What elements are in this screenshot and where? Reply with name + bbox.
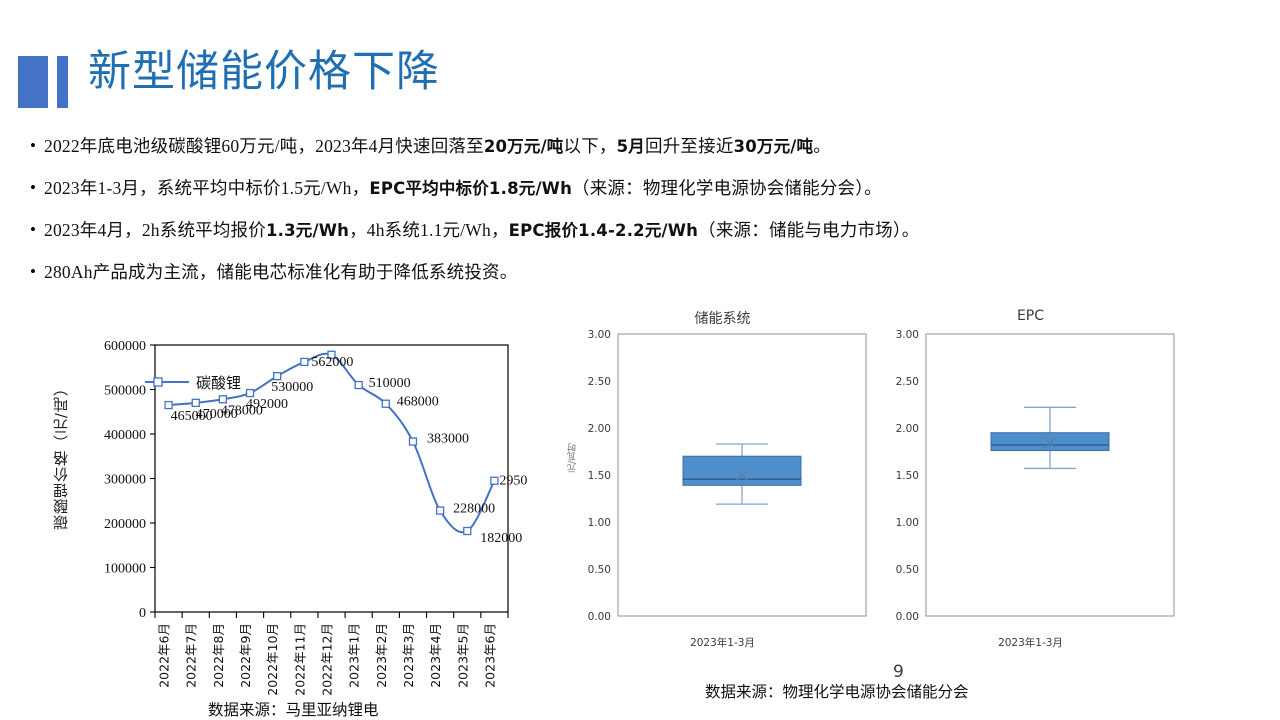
svg-text:2.50: 2.50 (896, 376, 919, 388)
list-item: • 280Ah产品成为主流，储能电芯标准化有助于降低系统投资。 (22, 259, 1272, 287)
page-title: 新型储能价格下降 (88, 48, 440, 97)
box-chart-title: EPC (878, 308, 1183, 324)
svg-text:2023年6月: 2023年6月 (482, 623, 497, 688)
bullet-text: 280Ah产品成为主流，储能电芯标准化有助于降低系统投资。 (44, 259, 517, 285)
lithium-price-line-chart: 碳酸锂价格（元/吨） 01000002000003000004000005000… (58, 320, 528, 720)
charts-area: 碳酸锂价格（元/吨） 01000002000003000004000005000… (0, 300, 1280, 720)
svg-text:2.00: 2.00 (896, 423, 919, 435)
slide-root: 新型储能价格下降 • 2022年底电池级碳酸锂60万元/吨，2023年4月快速回… (0, 0, 1280, 720)
svg-text:1.00: 1.00 (896, 517, 919, 529)
bullet-marker: • (22, 133, 44, 159)
svg-text:600000: 600000 (104, 339, 146, 354)
svg-text:492000: 492000 (246, 397, 288, 412)
svg-text:0: 0 (139, 606, 146, 621)
page-number: 9 (893, 662, 904, 682)
svg-text:228000: 228000 (453, 502, 495, 517)
bullet-text: 2023年1-3月，系统平均中标价1.5元/Wh，EPC平均中标价1.8元/Wh… (44, 175, 882, 202)
box-chart-title: 储能系统 (570, 308, 875, 328)
svg-text:2023年2月: 2023年2月 (374, 623, 389, 688)
accent-bar-thin (57, 56, 68, 108)
list-item: • 2022年底电池级碳酸锂60万元/吨，2023年4月快速回落至20万元/吨以… (22, 133, 1272, 161)
box-charts-source-caption: 数据来源：物理化学电源协会储能分会 (705, 680, 969, 702)
svg-text:383000: 383000 (427, 432, 469, 447)
list-item: • 2023年1-3月，系统平均中标价1.5元/Wh，EPC平均中标价1.8元/… (22, 175, 1272, 203)
svg-text:2022年10月: 2022年10月 (265, 623, 280, 695)
box-chart-canvas: 0.000.501.001.502.002.503.00 (878, 326, 1183, 636)
svg-text:0.50: 0.50 (588, 564, 611, 576)
svg-text:2.00: 2.00 (588, 423, 611, 435)
ess-price-box-chart: 储能系统 元/瓦时 0.000.501.001.502.002.503.00 2… (570, 308, 875, 653)
svg-text:2022年6月: 2022年6月 (157, 623, 172, 688)
box-chart-category-label: 2023年1-3月 (570, 635, 875, 650)
title-accent-bars (18, 56, 68, 108)
svg-text:1.50: 1.50 (588, 470, 611, 482)
svg-text:2023年1月: 2023年1月 (347, 623, 362, 688)
svg-text:2023年5月: 2023年5月 (455, 623, 470, 688)
svg-text:530000: 530000 (271, 380, 313, 395)
svg-text:2022年7月: 2022年7月 (184, 623, 199, 688)
svg-text:182000: 182000 (480, 531, 522, 546)
svg-text:510000: 510000 (369, 376, 411, 391)
svg-text:2022年12月: 2022年12月 (320, 623, 335, 695)
svg-text:562000: 562000 (311, 355, 353, 370)
epc-price-box-chart: EPC 0.000.501.001.502.002.503.00 2023年1-… (878, 308, 1183, 653)
svg-text:2.50: 2.50 (588, 376, 611, 388)
bullet-marker: • (22, 259, 44, 285)
svg-text:1.50: 1.50 (896, 470, 919, 482)
bullet-list: • 2022年底电池级碳酸锂60万元/吨，2023年4月快速回落至20万元/吨以… (22, 133, 1272, 301)
svg-text:3.00: 3.00 (588, 329, 611, 341)
accent-bar-wide (18, 56, 48, 108)
svg-text:3.00: 3.00 (896, 329, 919, 341)
svg-text:2022年9月: 2022年9月 (238, 623, 253, 688)
svg-text:2022年8月: 2022年8月 (211, 623, 226, 688)
svg-text:1.00: 1.00 (588, 517, 611, 529)
svg-text:295000: 295000 (499, 474, 528, 489)
svg-text:400000: 400000 (104, 428, 146, 443)
list-item: • 2023年4月，2h系统平均报价1.3元/Wh，4h系统1.1元/Wh，EP… (22, 217, 1272, 245)
line-chart-source-caption: 数据来源：马里亚纳锂电 (208, 698, 379, 720)
svg-text:468000: 468000 (397, 395, 439, 410)
line-chart-canvas: 0100000200000300000400000500000600000202… (58, 320, 528, 695)
svg-text:300000: 300000 (104, 473, 146, 488)
svg-text:2023年4月: 2023年4月 (428, 623, 443, 688)
svg-text:0.50: 0.50 (896, 564, 919, 576)
bullet-text: 2022年底电池级碳酸锂60万元/吨，2023年4月快速回落至20万元/吨以下，… (44, 133, 831, 160)
box-chart-category-label: 2023年1-3月 (878, 635, 1183, 650)
bullet-marker: • (22, 217, 44, 243)
box-chart-canvas: 0.000.501.001.502.002.503.00 (570, 326, 875, 636)
svg-text:0.00: 0.00 (588, 611, 611, 623)
svg-text:2023年3月: 2023年3月 (401, 623, 416, 688)
svg-text:2022年11月: 2022年11月 (292, 623, 307, 695)
bullet-marker: • (22, 175, 44, 201)
svg-text:500000: 500000 (104, 384, 146, 399)
svg-text:200000: 200000 (104, 517, 146, 532)
svg-text:0.00: 0.00 (896, 611, 919, 623)
svg-text:碳酸锂: 碳酸锂 (196, 374, 241, 392)
bullet-text: 2023年4月，2h系统平均报价1.3元/Wh，4h系统1.1元/Wh，EPC报… (44, 217, 920, 244)
svg-text:100000: 100000 (104, 562, 146, 577)
